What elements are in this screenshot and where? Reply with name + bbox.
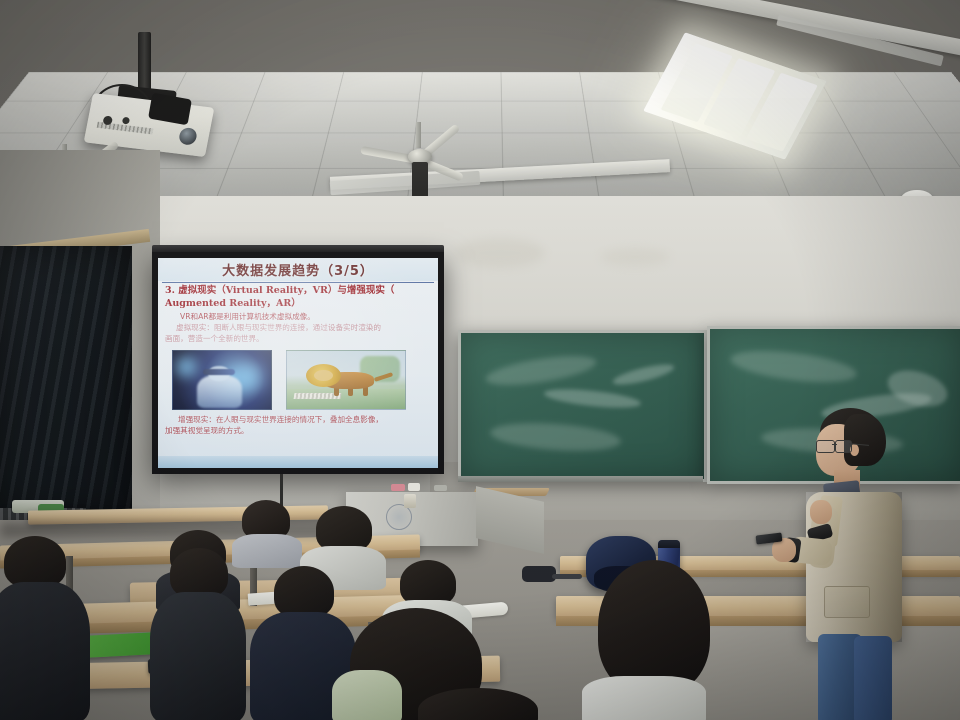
torso (332, 670, 402, 720)
fan-downrod (416, 122, 421, 148)
hair (274, 566, 334, 618)
hair (418, 688, 538, 720)
presenter-hand-raised (810, 500, 832, 524)
podium-item-white[interactable] (408, 483, 420, 491)
slide-caption-line-2: 加强其视觉呈现的方式。 (165, 426, 421, 437)
slide-body-line-2: 虚拟现实：阻断人眼与现实世界的连接，通过设备实时渲染的 (176, 323, 434, 334)
slide-heading-line-2: Augmented Reality，AR） (165, 298, 433, 311)
thermos-cap (658, 540, 680, 548)
slide-body-line-1: VR和AR都是利用计算机技术虚拟成像。 (180, 312, 430, 323)
jacket-pocket (824, 586, 870, 618)
instructor (778, 408, 918, 720)
chalk-smear (543, 386, 641, 411)
slide-heading-line-1: 3. 虚拟现实（Virtual Reality，VR）与增强现实（ (165, 285, 433, 298)
slide-caption-line-1: 增强现实：在人眼与现实世界连接的情况下，叠加全息影像， (178, 415, 434, 426)
eyeglasses-lens-right (835, 440, 852, 453)
slide-footer-band (158, 456, 438, 468)
hair (170, 548, 228, 598)
slide-title: 大数据发展趋势（3/5） (158, 260, 438, 279)
student-right-edge (418, 688, 538, 720)
slide-body-line-3: 画面，营造一个全新的世界。 (165, 334, 423, 345)
slide-image-vr (172, 350, 272, 410)
presenter-jeans-right-leg (854, 636, 892, 720)
torso (582, 676, 706, 720)
projector-lens (178, 127, 198, 146)
chalk-smear (611, 361, 675, 389)
ar-lion-face (314, 370, 333, 381)
vr-light-glow (172, 354, 206, 380)
slide-divider-rule (162, 282, 434, 283)
podium-item-pink[interactable] (391, 484, 405, 491)
desk-item-dark[interactable] (522, 566, 556, 582)
small-bottle[interactable] (404, 494, 416, 508)
podium-side-panel (476, 486, 544, 554)
torso (0, 582, 90, 720)
hair (598, 560, 710, 694)
blackout-curtain (0, 246, 132, 514)
projector-mount-pole (138, 32, 151, 94)
eyeglasses-bridge (832, 444, 837, 445)
chalk-smear (484, 351, 598, 392)
wall-stain (600, 248, 670, 266)
chalk-smear (729, 346, 858, 389)
student-longhair-right (592, 560, 716, 720)
chalk-smear (489, 419, 622, 454)
slide-image-ar (286, 350, 406, 410)
hair (4, 536, 66, 588)
projector-control-knob (122, 117, 130, 125)
vr-headset-icon (203, 369, 234, 375)
wall-stain (455, 238, 545, 268)
student-mid-dark (150, 548, 246, 720)
projected-slide: 大数据发展趋势（3/5） 3. 虚拟现实（Virtual Reality，VR）… (158, 258, 438, 468)
podium-item-grey[interactable] (434, 485, 447, 491)
student-left-edge (0, 536, 90, 720)
classroom-lecture-photo: 大数据发展趋势（3/5） 3. 虚拟现实（Virtual Reality，VR）… (0, 0, 960, 720)
torso (150, 592, 246, 720)
chalkboard-left (458, 330, 707, 482)
desk-item-cable[interactable] (552, 574, 582, 579)
eyeglasses-lens-left (816, 440, 835, 453)
